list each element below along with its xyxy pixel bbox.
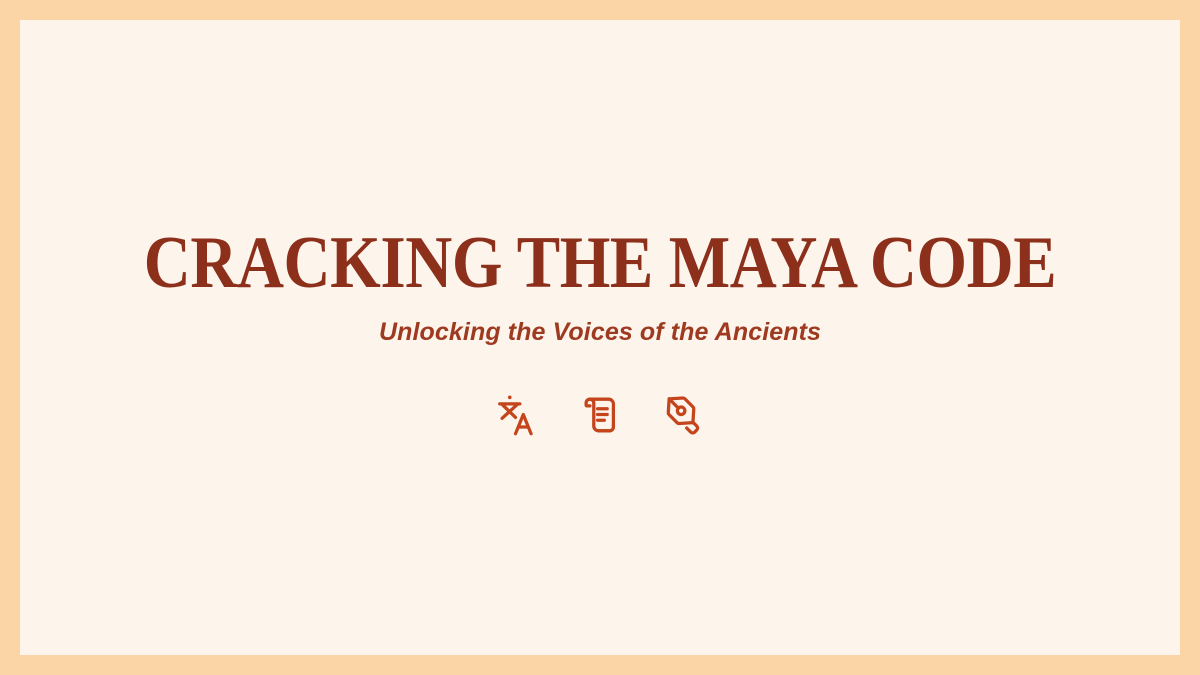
slide-canvas: CRACKING THE MAYA CODE Unlocking the Voi…: [20, 20, 1180, 655]
page-title: CRACKING THE MAYA CODE: [90, 226, 1111, 300]
page-subtitle: Unlocking the Voices of the Ancients: [20, 316, 1180, 349]
icon-row: [20, 392, 1180, 438]
slide-frame: CRACKING THE MAYA CODE Unlocking the Voi…: [0, 0, 1200, 675]
scroll-icon: [577, 392, 623, 438]
translate-icon: [493, 392, 539, 438]
pen-nib-icon: [661, 392, 707, 438]
